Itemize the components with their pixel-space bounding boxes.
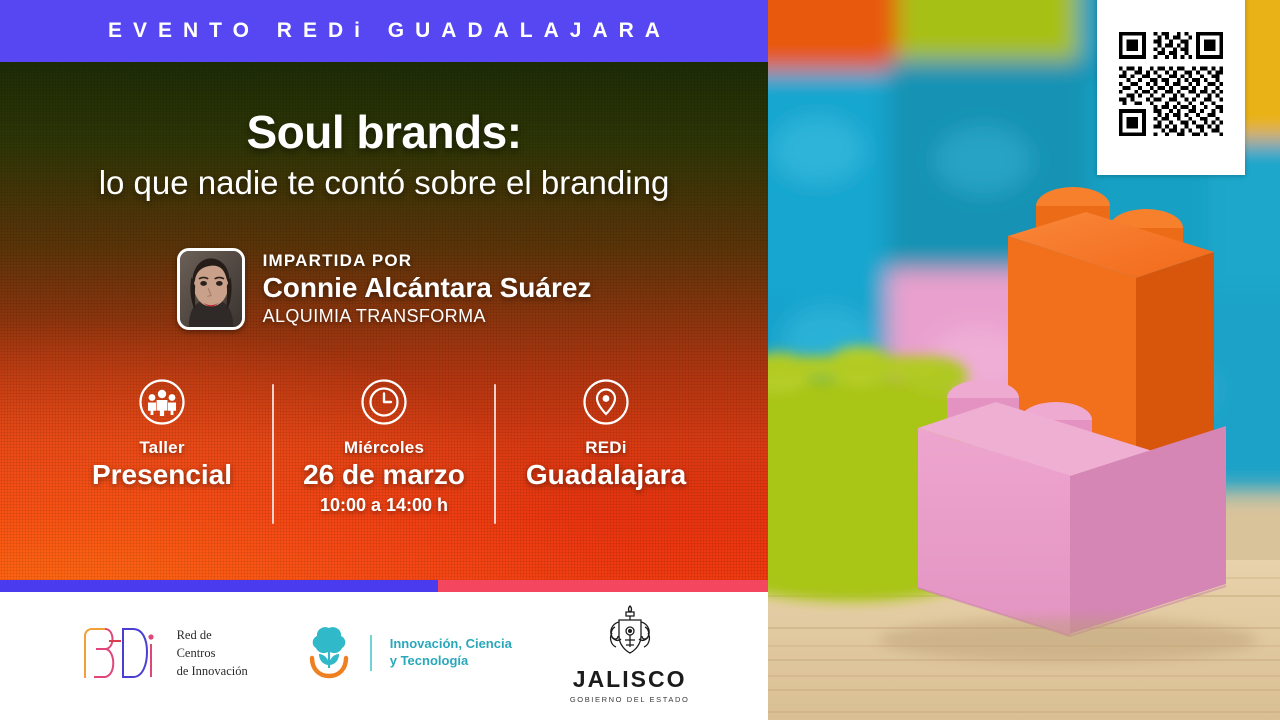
title-block: Soul brands: lo que nadie te contó sobre…	[0, 62, 768, 202]
speaker-kicker: IMPARTIDA POR	[263, 251, 592, 271]
accent-bar	[0, 580, 768, 592]
innovacion-logo-line: y Tecnología	[390, 653, 512, 670]
lego-bricks-photo	[768, 0, 1280, 720]
detail-venue-value: Guadalajara	[514, 459, 698, 490]
jalisco-subtitle: GOBIERNO DEL ESTADO	[570, 695, 690, 704]
detail-modality-value: Presencial	[70, 459, 254, 490]
accent-bar-right	[438, 580, 768, 592]
location-icon	[582, 378, 630, 426]
detail-venue-label: REDi	[514, 438, 698, 458]
detail-date-time: 10:00 a 14:00 h	[292, 495, 476, 516]
detail-divider	[272, 384, 274, 524]
avatar	[177, 248, 245, 330]
accent-bar-left	[0, 580, 438, 592]
group-icon	[138, 378, 186, 426]
jalisco-crest-icon	[599, 603, 661, 665]
jalisco-logo: JALISCO GOBIERNO DEL ESTADO	[570, 603, 690, 704]
qr-code-card[interactable]	[1097, 0, 1245, 175]
logo-divider	[370, 635, 372, 671]
redi-logo-line: Red de	[177, 626, 248, 644]
speaker-name: Connie Alcántara Suárez	[263, 272, 592, 304]
detail-date-label: Miércoles	[292, 438, 476, 458]
footer-logos: Red de Centros de Innovación	[0, 592, 768, 720]
poster-body: Soul brands: lo que nadie te contó sobre…	[0, 62, 768, 580]
flower-icon	[306, 625, 352, 681]
innovacion-ciencia-tecnologia-logo: Innovación, Ciencia y Tecnología	[306, 625, 512, 681]
page-subtitle: lo que nadie te contó sobre el branding	[0, 164, 768, 202]
detail-date-value: 26 de marzo	[292, 459, 476, 490]
event-banner-text: EVENTO REDi GUADALAJARA	[97, 19, 671, 43]
detail-modality: Taller Presencial	[64, 378, 260, 490]
page-title: Soul brands:	[0, 108, 768, 156]
jalisco-name: JALISCO	[570, 666, 690, 693]
redi-wordmark-icon	[79, 624, 167, 682]
innovacion-logo-line: Innovación, Ciencia	[390, 636, 512, 653]
event-banner: EVENTO REDi GUADALAJARA	[0, 0, 768, 62]
redi-logo-text: Red de Centros de Innovación	[177, 626, 248, 680]
event-details-row: Taller Presencial Miércoles	[0, 378, 768, 524]
detail-venue: REDi Guadalajara	[508, 378, 704, 490]
clock-icon	[360, 378, 408, 426]
innovacion-logo-text: Innovación, Ciencia y Tecnología	[390, 636, 512, 670]
redi-logo-line: de Innovación	[177, 662, 248, 680]
redi-logo: Red de Centros de Innovación	[79, 624, 248, 682]
speaker-block: IMPARTIDA POR Connie Alcántara Suárez AL…	[0, 248, 768, 330]
redi-logo-line: Centros	[177, 644, 248, 662]
detail-date: Miércoles 26 de marzo 10:00 a 14:00 h	[286, 378, 482, 515]
qr-code	[1115, 28, 1227, 140]
detail-modality-label: Taller	[70, 438, 254, 458]
poster-stage: EVENTO REDi GUADALAJARA Soul brands: lo …	[0, 0, 1280, 720]
speaker-organization: ALQUIMIA TRANSFORMA	[263, 306, 592, 327]
event-poster: EVENTO REDi GUADALAJARA Soul brands: lo …	[0, 0, 768, 720]
detail-divider	[494, 384, 496, 524]
